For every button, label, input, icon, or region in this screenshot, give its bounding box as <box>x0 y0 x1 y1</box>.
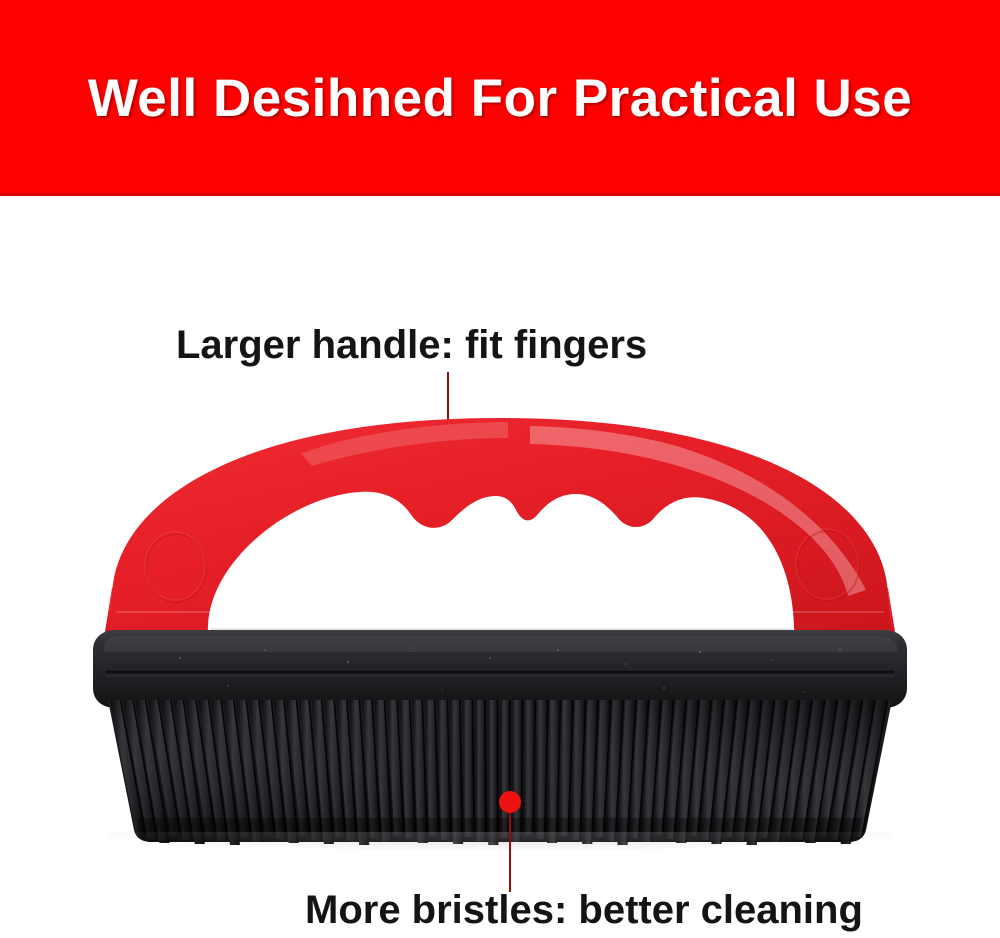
brush-bristles <box>108 700 892 845</box>
leader-line-bristles <box>509 802 511 892</box>
brush-handle-arch <box>108 418 892 652</box>
product-infographic: Well Desihned For Practical Use Larger h… <box>0 0 1000 938</box>
banner-title: Well Desihned For Practical Use <box>0 0 1000 196</box>
header-banner: Well Desihned For Practical Use <box>0 0 1000 196</box>
brush-base <box>93 630 907 708</box>
leader-dot-bristles <box>499 791 521 813</box>
product-image-brush <box>60 400 940 850</box>
callout-label-handle: Larger handle: fit fingers <box>176 323 647 368</box>
callout-label-bristles: More bristles: better cleaning <box>305 888 863 933</box>
